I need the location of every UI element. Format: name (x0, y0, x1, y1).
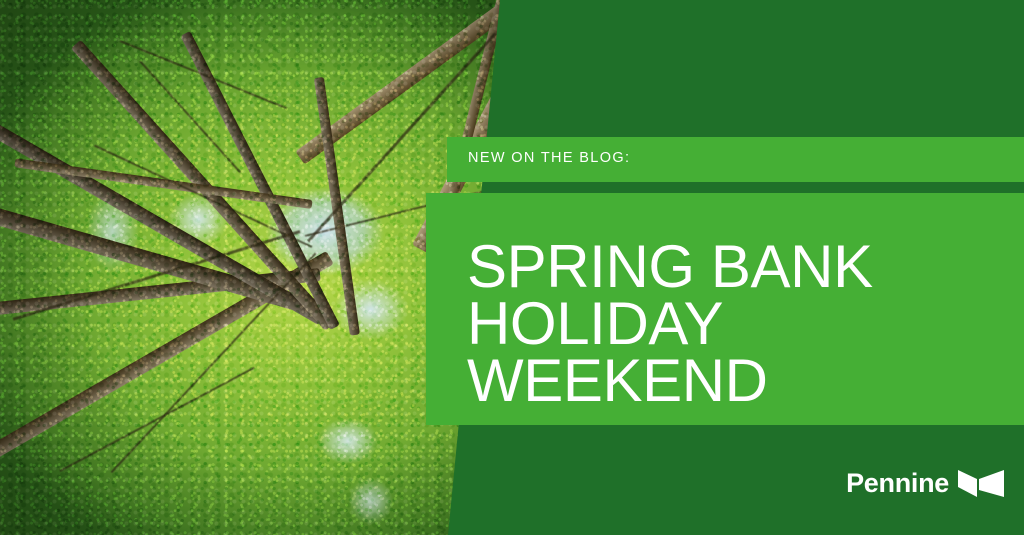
eyebrow-label: NEW ON THE BLOG: (468, 150, 630, 166)
page-title: SPRING BANK HOLIDAY WEEKEND (467, 238, 1007, 409)
blog-promo-banner: NEW ON THE BLOG: SPRING BANK HOLIDAY WEE… (0, 0, 1024, 535)
brand-logo[interactable]: Pennine (846, 470, 1004, 497)
pennine-flag-mark-icon (958, 470, 1004, 497)
brand-name: Pennine (846, 470, 949, 497)
